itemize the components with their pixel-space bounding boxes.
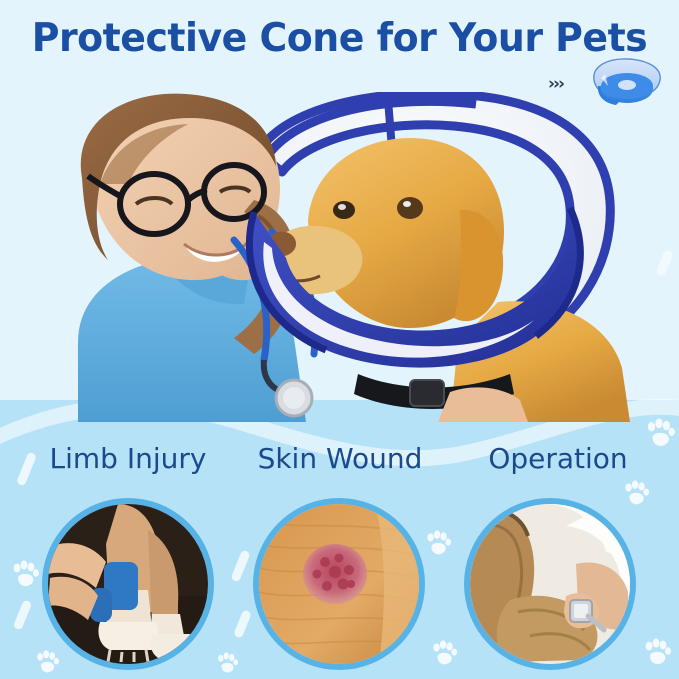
category-image-limb-injury [42,498,214,670]
category-label-operation: Operation [448,442,668,475]
hero-image [58,92,638,422]
category-label-skin-wound: Skin Wound [230,442,450,475]
paw-print-icon [430,640,458,671]
paw-print-icon [644,418,676,453]
paw-print-icon [424,530,452,561]
product-poster: Protective Cone for Your Pets ››› [0,0,679,679]
category-image-operation [464,498,636,670]
category-label-limb-injury: Limb Injury [18,442,238,475]
paw-print-icon [34,650,60,679]
chevron-right-icon: ››› [548,74,563,94]
category-image-skin-wound [253,498,425,670]
category-labels: Limb Injury Skin Wound Operation [0,442,679,484]
paw-print-icon [10,560,40,593]
paw-print-icon [622,480,650,511]
paw-print-icon [215,652,239,679]
paw-print-icon [642,638,672,671]
page-title: Protective Cone for Your Pets [10,16,669,61]
